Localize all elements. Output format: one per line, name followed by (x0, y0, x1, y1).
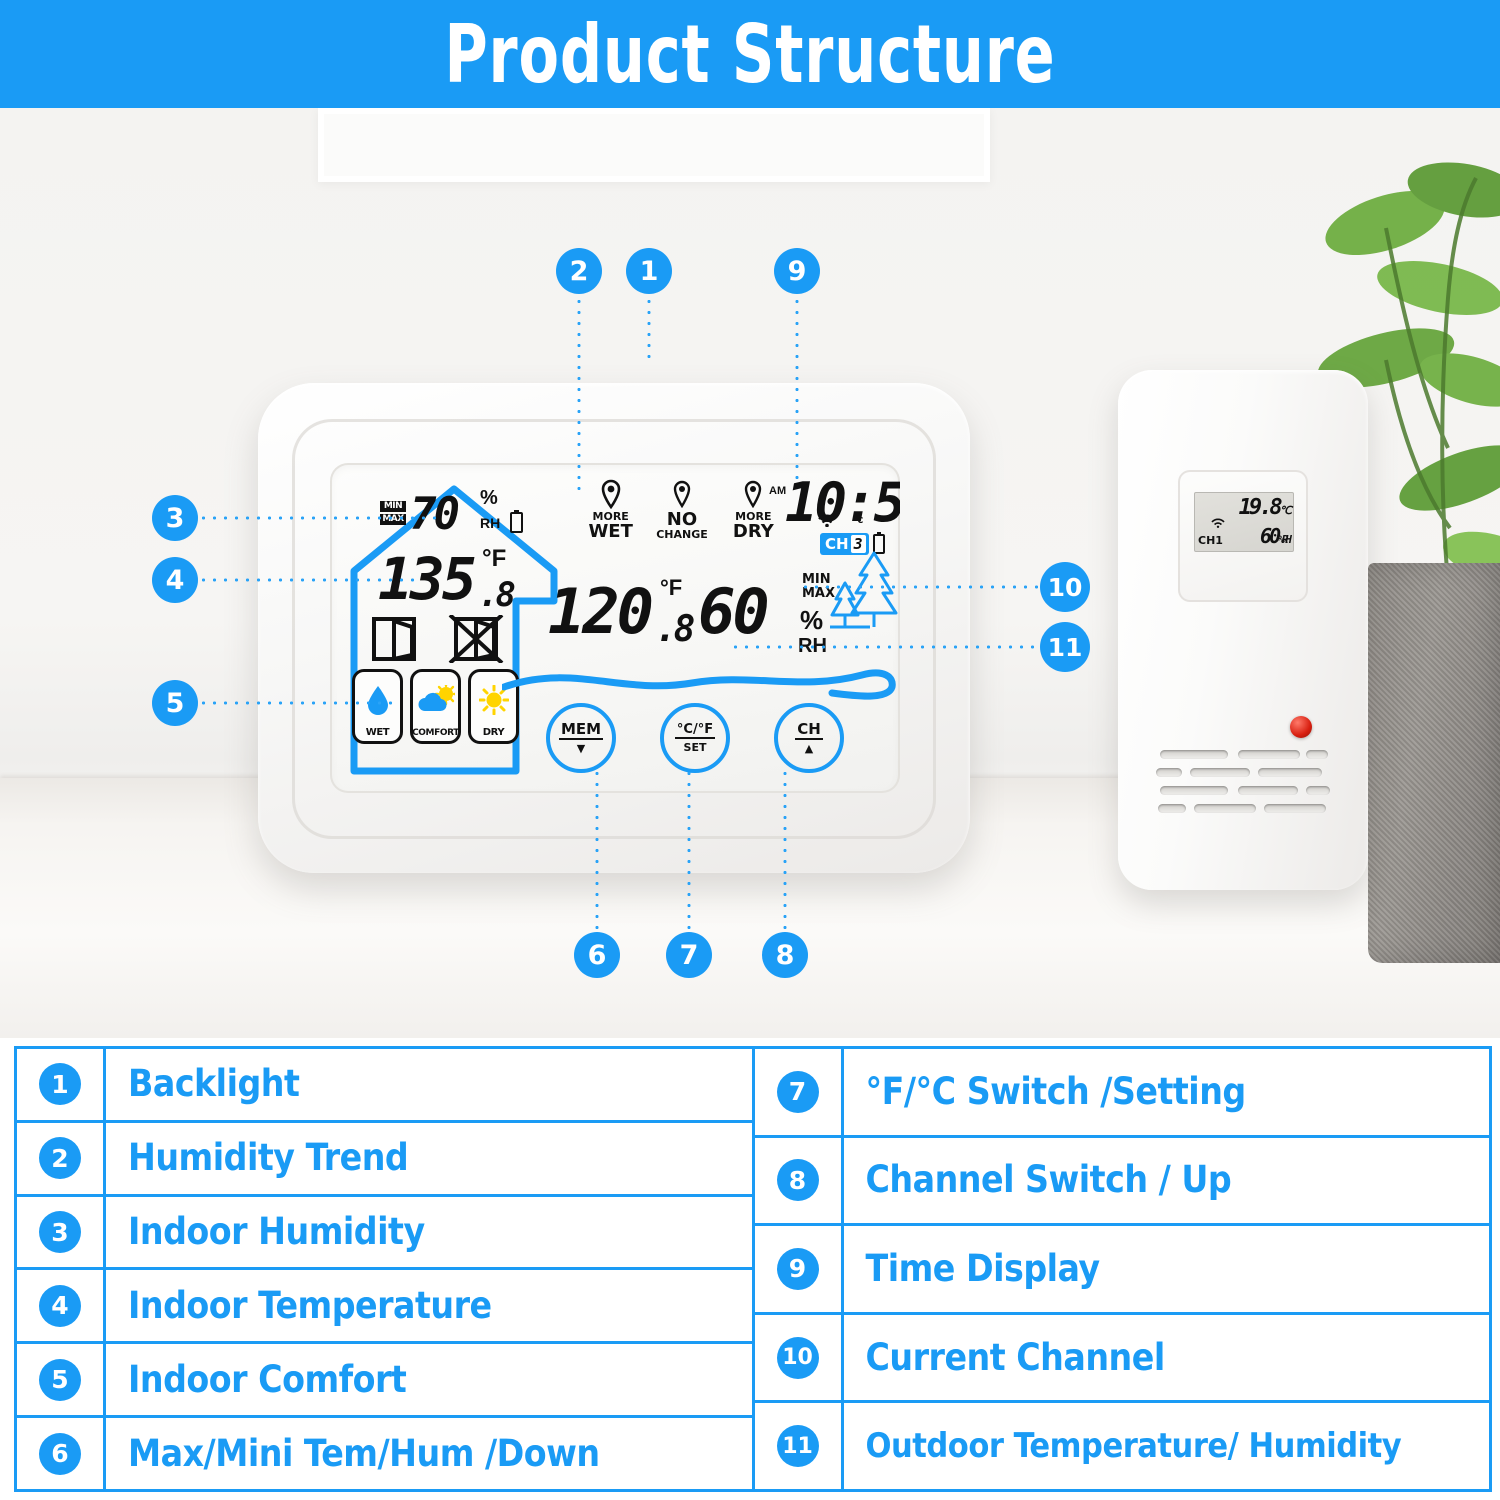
callout-11-number: 11 (1048, 633, 1083, 662)
legend-number-cell: 6 (17, 1418, 106, 1489)
callout-1-number: 1 (640, 256, 659, 287)
plant-pot (1368, 563, 1500, 963)
legend-label-1: Backlight (106, 1064, 299, 1104)
celsius-fahrenheit-set-button[interactable]: °C/°F SET (660, 703, 730, 773)
clock-time: 10:55 (785, 471, 900, 534)
callout-5-number: 5 (166, 688, 185, 719)
trend-nochange-line1: NO (653, 511, 710, 529)
callout-5-leader (198, 701, 394, 705)
header-banner: Product Structure (0, 0, 1500, 108)
indoor-humidity-rh-label: RH (480, 515, 500, 531)
page-title: Product Structure (135, 0, 1365, 108)
legend-row-1: 1 Backlight (17, 1049, 752, 1123)
window-status-icons (370, 615, 510, 663)
touch-button-row: MEM ▼ °C/°F SET CH ▲ (546, 703, 844, 773)
legend-badge-4: 4 (39, 1285, 81, 1327)
legend-row-11: 11 Outdoor Temperature/ Humidity (755, 1403, 1490, 1489)
callout-8-leader (783, 768, 787, 936)
callout-6: 6 (574, 932, 620, 978)
callout-4: 4 (152, 557, 198, 603)
comfort-comfort-label: COMFORT (412, 728, 459, 738)
sensor-temperature-unit: ℃ (1280, 504, 1289, 517)
indoor-humidity-percent-symbol: % (480, 487, 498, 510)
legend-badge-11: 11 (777, 1425, 819, 1467)
legend-label-7: °F/°C Switch /Setting (844, 1072, 1246, 1112)
callout-2-number: 2 (570, 256, 589, 287)
product-structure-infographic: Product Structure (0, 0, 1500, 1500)
callout-9-leader (795, 296, 799, 486)
legend-badge-5: 5 (39, 1359, 81, 1401)
sensor-channel-label: CH1 (1198, 534, 1223, 547)
meridiem-label: AM (769, 485, 786, 497)
comfort-comfort-box: COMFORT (410, 669, 461, 744)
callout-6-leader (595, 768, 599, 936)
callout-10-number: 10 (1048, 573, 1083, 602)
callout-11-leader (730, 645, 1042, 649)
legend-label-4: Indoor Temperature (106, 1286, 492, 1326)
legend-number-cell: 3 (17, 1197, 106, 1268)
legend-number-cell: 4 (17, 1270, 106, 1341)
legend-badge-9: 9 (777, 1248, 819, 1290)
legend-row-5: 5 Indoor Comfort (17, 1344, 752, 1418)
up-arrow-icon: ▲ (805, 743, 813, 754)
trend-dry-line2: DRY (725, 523, 782, 541)
callout-5: 5 (152, 680, 198, 726)
callout-1: 1 (626, 248, 672, 294)
cf-button-label: °C/°F (675, 723, 715, 739)
outdoor-temperature-unit: °F (660, 575, 682, 601)
sensor-face-panel: 19.8℃ CH1 60%RH (1178, 470, 1308, 602)
legend-badge-1: 1 (39, 1063, 81, 1105)
indoor-min-label: MIN (380, 501, 406, 512)
callout-2: 2 (556, 248, 602, 294)
indoor-comfort-indicators: WET (352, 669, 519, 744)
legend-label-2: Humidity Trend (106, 1138, 408, 1178)
callout-6-number: 6 (588, 940, 607, 971)
callout-1-leader (647, 296, 651, 364)
mem-button-label: MEM (559, 722, 603, 740)
legend-number-cell: 1 (17, 1049, 106, 1120)
cloud-sun-icon (413, 672, 458, 728)
legend-label-9: Time Display (844, 1249, 1100, 1289)
legend-number-cell: 7 (755, 1049, 844, 1135)
outdoor-temperature-decimal: .8 (655, 609, 692, 650)
indoor-minmax-label: MIN MAX (380, 501, 406, 527)
legend-label-11: Outdoor Temperature/ Humidity (844, 1428, 1402, 1465)
wifi-signal-icon (817, 513, 837, 532)
legend-label-8: Channel Switch / Up (844, 1160, 1232, 1200)
legend-number-cell: 5 (17, 1344, 106, 1415)
outdoor-humidity-value: 60 (698, 575, 767, 648)
callout-9: 9 (774, 248, 820, 294)
legend-row-7: 7 °F/°C Switch /Setting (755, 1049, 1490, 1138)
legend-row-3: 3 Indoor Humidity (17, 1197, 752, 1271)
remote-sensor-unit[interactable]: 19.8℃ CH1 60%RH (1118, 370, 1368, 890)
sensor-temperature: 19.8℃ (1239, 495, 1289, 520)
legend-badge-7: 7 (777, 1071, 819, 1113)
legend-number-cell: 2 (17, 1123, 106, 1194)
channel-up-button[interactable]: CH ▲ (774, 703, 844, 773)
callout-10-leader (800, 585, 1042, 589)
legend-badge-2: 2 (39, 1137, 81, 1179)
callout-9-number: 9 (788, 256, 807, 287)
legend-row-2: 2 Humidity Trend (17, 1123, 752, 1197)
sensor-humidity: 60%RH (1260, 524, 1289, 548)
callout-8-number: 8 (776, 940, 795, 971)
celsius-mark: c (857, 513, 864, 526)
indoor-temperature-unit: °F (482, 545, 506, 573)
callout-11: 11 (1040, 622, 1090, 672)
legend-table: 1 Backlight 2 Humidity Trend 3 Indoor Hu… (14, 1046, 1492, 1492)
legend-label-10: Current Channel (844, 1338, 1165, 1378)
legend-label-3: Indoor Humidity (106, 1212, 425, 1252)
sensor-humidity-unit: %RH (1278, 533, 1289, 546)
sensor-vent-grille (1156, 750, 1332, 842)
time-display: AM 10:55 (785, 471, 900, 534)
sensor-humidity-value: 60 (1260, 524, 1278, 548)
callout-8: 8 (762, 932, 808, 978)
mem-down-button[interactable]: MEM ▼ (546, 703, 616, 773)
callout-7-number: 7 (680, 940, 699, 971)
trend-more-wet: MORE WET (582, 477, 639, 555)
legend-badge-3: 3 (39, 1211, 81, 1253)
ch-button-label: CH (795, 722, 823, 740)
legend-badge-6: 6 (39, 1433, 81, 1475)
legend-row-4: 4 Indoor Temperature (17, 1270, 752, 1344)
legend-number-cell: 11 (755, 1403, 844, 1489)
weather-station-main-unit[interactable]: MIN MAX 70 % RH 135 .8 °F (258, 383, 970, 873)
outdoor-humidity-percent-symbol: % (800, 605, 823, 636)
pin-icon (582, 477, 639, 511)
legend-row-6: 6 Max/Mini Tem/Hum /Down (17, 1418, 752, 1489)
wifi-signal-icon (1211, 515, 1225, 533)
main-lcd-display: MIN MAX 70 % RH 135 .8 °F (330, 463, 900, 793)
pin-icon (653, 477, 710, 511)
comfort-wet-label: WET (366, 727, 389, 738)
indoor-battery-icon (510, 512, 523, 533)
comfort-wet-box: WET (352, 669, 403, 744)
legend-column-left: 1 Backlight 2 Humidity Trend 3 Indoor Hu… (17, 1049, 755, 1489)
callout-4-leader (198, 578, 420, 582)
callout-2-leader (577, 296, 581, 496)
trend-no-change: NO CHANGE (653, 477, 710, 555)
water-drop-icon (355, 672, 400, 727)
led-indicator-icon (1290, 716, 1312, 738)
callout-7: 7 (666, 932, 712, 978)
set-button-label: SET (684, 742, 707, 753)
trend-nochange-line2: CHANGE (653, 529, 710, 541)
callout-3: 3 (152, 495, 198, 541)
down-arrow-icon: ▼ (577, 743, 585, 754)
legend-row-9: 9 Time Display (755, 1226, 1490, 1315)
callout-4-number: 4 (166, 565, 185, 596)
product-photo-scene: MIN MAX 70 % RH 135 .8 °F (0, 108, 1500, 1038)
legend-number-cell: 8 (755, 1138, 844, 1224)
legend-badge-8: 8 (777, 1159, 819, 1201)
legend-number-cell: 9 (755, 1226, 844, 1312)
callout-10: 10 (1040, 562, 1090, 612)
legend-column-right: 7 °F/°C Switch /Setting 8 Channel Switch… (755, 1049, 1490, 1489)
legend-number-cell: 10 (755, 1315, 844, 1401)
legend-label-5: Indoor Comfort (106, 1360, 406, 1400)
humidity-trend-group: MORE WET NO CHANGE MORE (582, 477, 782, 555)
callout-3-number: 3 (166, 503, 185, 534)
trend-wet-line2: WET (582, 523, 639, 541)
river-wave-icon (502, 661, 898, 706)
indoor-humidity-value: 70 (410, 489, 457, 540)
indoor-temperature-decimal: .8 (478, 575, 513, 615)
outdoor-temperature-value: 120 (548, 575, 651, 648)
legend-row-10: 10 Current Channel (755, 1315, 1490, 1404)
wall-panel (318, 108, 990, 182)
callout-7-leader (687, 768, 691, 936)
comfort-dry-label: DRY (483, 727, 505, 738)
sensor-temperature-value: 19.8 (1239, 495, 1280, 520)
legend-row-8: 8 Channel Switch / Up (755, 1138, 1490, 1227)
callout-3-leader (198, 516, 443, 520)
legend-badge-10: 10 (777, 1337, 819, 1379)
sensor-lcd-display: 19.8℃ CH1 60%RH (1194, 492, 1294, 552)
pine-trees-icon (830, 547, 898, 638)
legend-label-6: Max/Mini Tem/Hum /Down (106, 1434, 600, 1474)
